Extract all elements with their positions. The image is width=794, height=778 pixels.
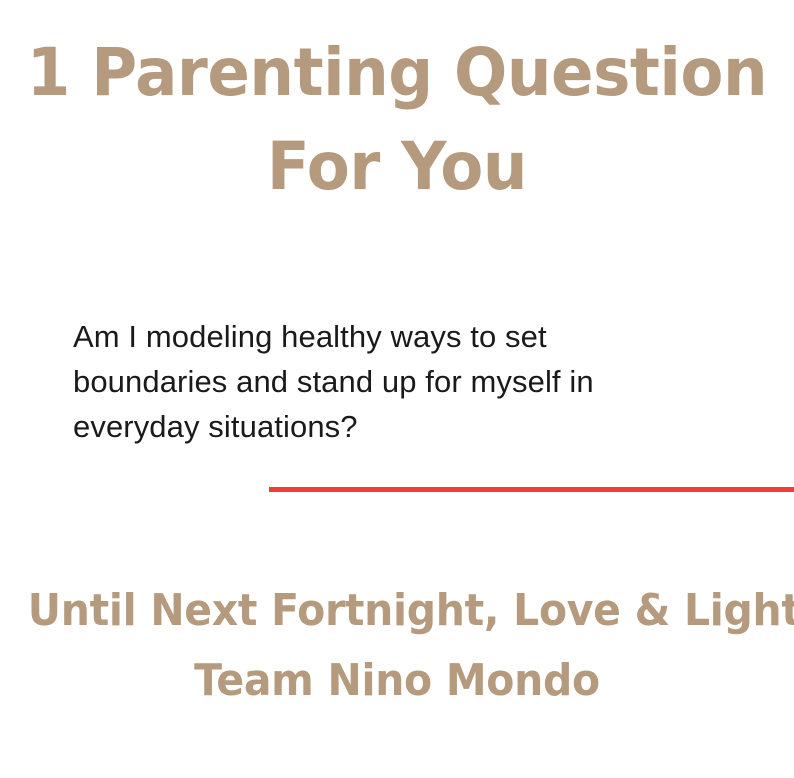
newsletter-card: 1 Parenting Question For You Am I modeli… [0,0,794,778]
question-line-2: boundaries and stand up for myself in [73,359,713,404]
red-rule [269,487,794,492]
signoff-line-2: Team Nino Mondo [28,646,766,716]
divider [269,487,794,493]
signoff: Until Next Fortnight, Love & Light! Team… [0,576,794,716]
title-line-2: For You [20,120,774,214]
title-line-1: 1 Parenting Question [20,26,774,120]
question-body: Am I modeling healthy ways to set bounda… [73,314,713,449]
page-title: 1 Parenting Question For You [0,26,794,214]
question-line-1: Am I modeling healthy ways to set [73,314,713,359]
question-line-3: everyday situations? [73,404,713,449]
signoff-line-1: Until Next Fortnight, Love & Light! [28,576,766,646]
